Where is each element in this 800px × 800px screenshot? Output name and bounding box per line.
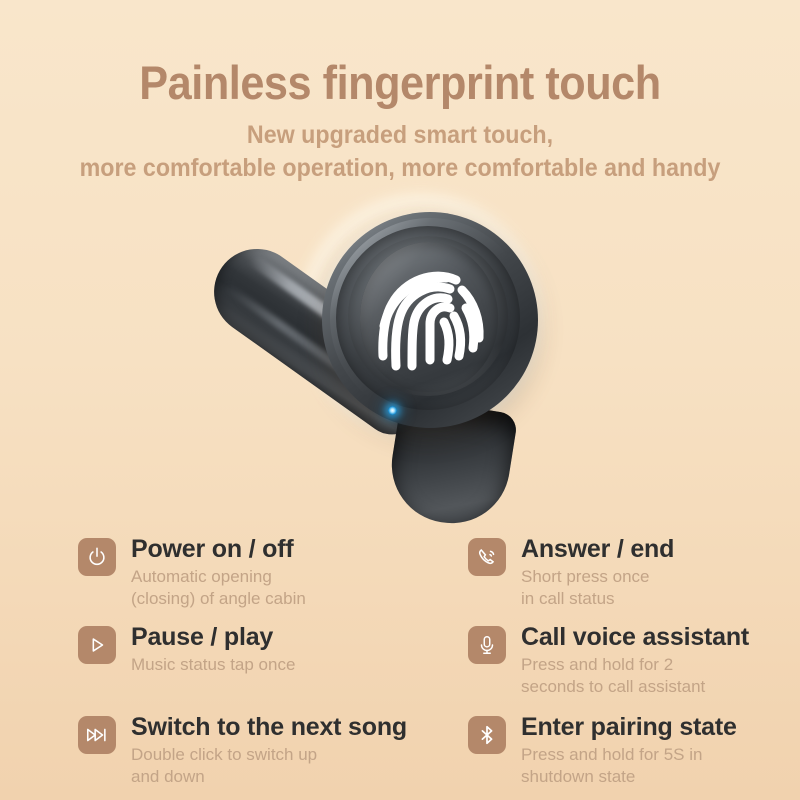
feature-item-pause-play[interactable]: Pause / play Music status tap once bbox=[78, 624, 295, 676]
promo-page: Painless fingerprint touch New upgraded … bbox=[0, 0, 800, 800]
subtitle-line-1: New upgraded smart touch, bbox=[28, 119, 772, 152]
feature-description: Short press once in call status bbox=[521, 566, 674, 609]
page-title: Painless fingerprint touch bbox=[32, 58, 768, 107]
feature-text: Answer / end Short press once in call st… bbox=[521, 536, 674, 609]
feature-title: Answer / end bbox=[521, 536, 674, 562]
feature-text: Switch to the next song Double click to … bbox=[131, 714, 407, 787]
skip-forward-icon bbox=[78, 716, 116, 754]
bluetooth-icon bbox=[468, 716, 506, 754]
feature-description: Automatic opening (closing) of angle cab… bbox=[131, 566, 306, 609]
led-indicator bbox=[388, 406, 397, 415]
phone-call-icon bbox=[468, 538, 506, 576]
feature-text: Pause / play Music status tap once bbox=[131, 624, 295, 676]
fingerprint-icon bbox=[362, 242, 498, 394]
feature-list: Power on / off Automatic opening (closin… bbox=[0, 528, 800, 800]
feature-description: Music status tap once bbox=[131, 654, 295, 675]
feature-item-next-song[interactable]: Switch to the next song Double click to … bbox=[78, 714, 407, 787]
feature-title: Enter pairing state bbox=[521, 714, 737, 740]
feature-text: Power on / off Automatic opening (closin… bbox=[131, 536, 306, 609]
feature-text: Enter pairing state Press and hold for 5… bbox=[521, 714, 737, 787]
feature-description: Press and hold for 5S in shutdown state bbox=[521, 744, 737, 787]
power-icon bbox=[78, 538, 116, 576]
feature-title: Pause / play bbox=[131, 624, 295, 650]
feature-item-voice-assistant[interactable]: Call voice assistant Press and hold for … bbox=[468, 624, 749, 697]
feature-item-pairing[interactable]: Enter pairing state Press and hold for 5… bbox=[468, 714, 737, 787]
feature-text: Call voice assistant Press and hold for … bbox=[521, 624, 749, 697]
feature-description: Press and hold for 2 seconds to call ass… bbox=[521, 654, 749, 697]
feature-item-answer-end[interactable]: Answer / end Short press once in call st… bbox=[468, 536, 674, 609]
feature-description: Double click to switch up and down bbox=[131, 744, 407, 787]
feature-item-power[interactable]: Power on / off Automatic opening (closin… bbox=[78, 536, 306, 609]
product-illustration bbox=[0, 150, 800, 540]
microphone-icon bbox=[468, 626, 506, 664]
feature-title: Power on / off bbox=[131, 536, 306, 562]
feature-title: Call voice assistant bbox=[521, 624, 749, 650]
play-icon bbox=[78, 626, 116, 664]
feature-title: Switch to the next song bbox=[131, 714, 407, 740]
